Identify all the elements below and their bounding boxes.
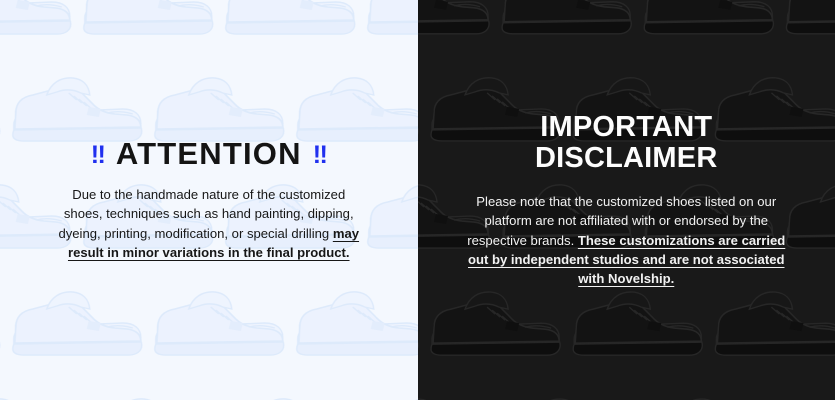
disclaimer-heading-line-2: DISCLAIMER <box>418 143 835 174</box>
disclaimer-panel: IMPORTANT DISCLAIMER Please note that th… <box>418 0 835 400</box>
double-exclamation-icon: ‼ <box>91 143 105 168</box>
attention-content: ‼ATTENTION‼ Due to the handmade nature o… <box>0 138 418 262</box>
attention-heading: ‼ATTENTION‼ <box>0 138 418 169</box>
attention-body-text: Due to the handmade nature of the custom… <box>53 185 365 262</box>
attention-body-normal: Due to the handmade nature of the custom… <box>58 187 353 240</box>
disclaimer-heading-line-1: IMPORTANT <box>418 112 835 143</box>
attention-heading-word: ATTENTION <box>116 138 302 169</box>
attention-panel: ‼ATTENTION‼ Due to the handmade nature o… <box>0 0 418 400</box>
disclaimer-body-text: Please note that the customized shoes li… <box>465 192 787 288</box>
disclaimer-heading: IMPORTANT DISCLAIMER <box>418 112 835 175</box>
disclaimer-content: IMPORTANT DISCLAIMER Please note that th… <box>418 112 835 289</box>
double-exclamation-icon: ‼ <box>313 143 327 168</box>
dual-disclaimer-banner: ‼ATTENTION‼ Due to the handmade nature o… <box>0 0 835 400</box>
